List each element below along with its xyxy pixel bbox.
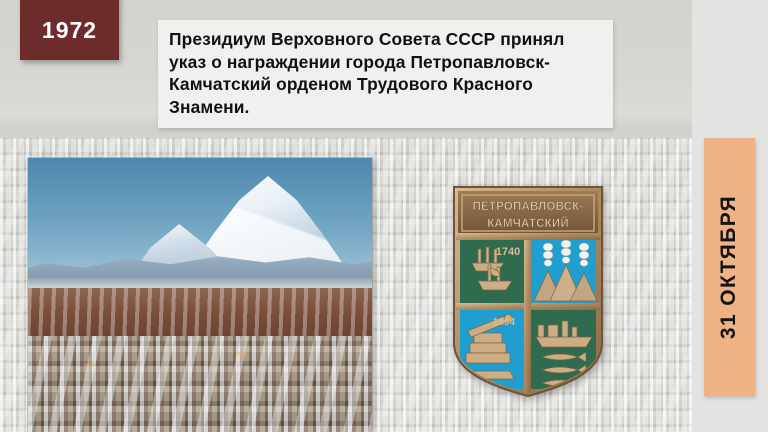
date-sidebar: 31 ОКТЯБРЯ: [704, 138, 755, 396]
emblem-banner-underline: [456, 233, 600, 240]
emblem-date-1740: 1740: [496, 246, 520, 258]
headline-text: Президиум Верховного Совета СССР принял …: [169, 29, 564, 117]
headline-box: Президиум Верховного Совета СССР принял …: [158, 20, 613, 128]
emblem-banner-line2: КАМЧАТСКИЙ: [487, 217, 569, 230]
photo-city-buildings: [28, 336, 372, 432]
year-badge: 1972: [20, 0, 119, 60]
date-sidebar-label: 31 ОКТЯБРЯ: [718, 195, 742, 339]
city-photograph: [28, 158, 372, 432]
year-badge-label: 1972: [42, 17, 97, 44]
emblem-banner-line1: ПЕТРОПАВЛОВСК-: [473, 201, 584, 213]
emblem-date-1894: 1894: [493, 317, 516, 328]
emblem-divider-vertical: [524, 235, 531, 395]
coat-of-arms-emblem: 1740: [452, 185, 604, 397]
slide-canvas: 1972 Президиум Верховного Совета СССР пр…: [0, 0, 768, 432]
